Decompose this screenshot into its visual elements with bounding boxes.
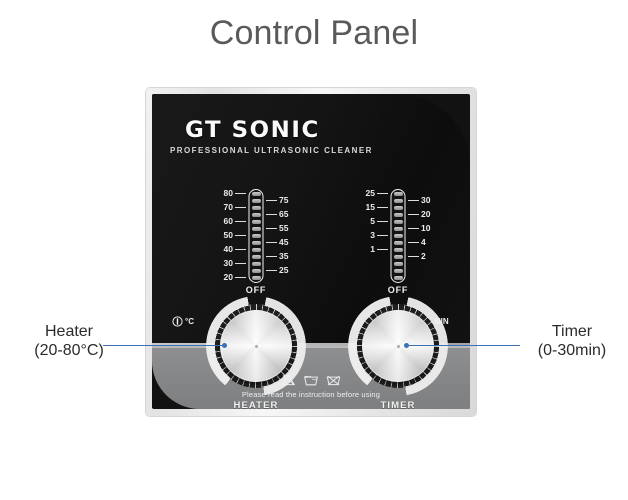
heater-tick-right [266, 256, 277, 257]
timer-knob-caption: TIMER [346, 400, 450, 409]
device-faceplate: GT SONIC PROFESSIONAL ULTRASONIC CLEANER… [152, 94, 470, 409]
timer-scale-capsule [391, 189, 406, 283]
heater-leader-dot [222, 343, 227, 348]
timer-scale-label-left: 5 [370, 216, 375, 226]
brand-logo: GT SONIC [185, 118, 320, 143]
heater-tick-right [266, 200, 277, 201]
timer-scale-segment [394, 255, 403, 260]
timer-callout-line1: Timer [520, 322, 624, 341]
heater-scale-segment [252, 241, 261, 246]
heater-tick-right [266, 270, 277, 271]
timer-scale-label-right: 2 [421, 251, 426, 261]
heater-scale-label-right: 55 [279, 223, 288, 233]
heater-tick-left [235, 207, 246, 208]
heater-scale-segment [252, 227, 261, 232]
heater-knob-dial[interactable] [220, 310, 292, 382]
timer-scale-segment [394, 206, 403, 211]
timer-tick-right [408, 256, 419, 257]
heater-callout-line1: Heater [14, 322, 124, 341]
timer-scale-label-right: 4 [421, 237, 426, 247]
timer-tick-left [377, 221, 388, 222]
timer-callout-line2: (0-30min) [520, 341, 624, 360]
page-title: Control Panel [0, 14, 628, 53]
heater-scale-segment [252, 192, 261, 197]
instruction-note: Please read the instruction before using [152, 390, 470, 399]
wash-temperature-icon [303, 374, 319, 386]
heater-scale-label-left: 50 [224, 230, 233, 240]
screenshot-root: Control Panel GT SONIC PROFESSIONAL ULTR… [0, 0, 628, 500]
timer-scale-segment [394, 213, 403, 218]
heater-tick-left [235, 277, 246, 278]
heater-scale-label-right: 75 [279, 195, 288, 205]
heater-knob-caption: HEATER [204, 400, 308, 409]
heater-tick-right [266, 228, 277, 229]
heater-scale-label-left: 20 [224, 272, 233, 282]
heater-scale-segment [252, 255, 261, 260]
timer-tick-right [408, 200, 419, 201]
timer-scale-label-left: 1 [370, 244, 375, 254]
heater-scale-segment [252, 276, 261, 281]
brand-tagline: PROFESSIONAL ULTRASONIC CLEANER [170, 146, 373, 155]
heater-scale-label-left: 70 [224, 202, 233, 212]
do-not-wash-icon [326, 374, 341, 386]
timer-tick-left [377, 193, 388, 194]
timer-scale-segment [394, 269, 403, 274]
timer-scale-segment [394, 227, 403, 232]
do-not-bleach-icon [281, 374, 296, 386]
heater-tick-left [235, 221, 246, 222]
timer-scale: 251553130201042 OFF [342, 189, 454, 285]
timer-scale-segment [394, 220, 403, 225]
timer-leader-dot [404, 343, 409, 348]
heater-tick-left [235, 263, 246, 264]
heater-scale-label-right: 45 [279, 237, 288, 247]
heater-scale-segment [252, 248, 261, 253]
heater-tick-right [266, 214, 277, 215]
heater-tick-left [235, 235, 246, 236]
care-icon-row [152, 374, 470, 386]
timer-scale-label-right: 10 [421, 223, 430, 233]
heater-scale-label-left: 80 [224, 188, 233, 198]
heater-leader-line [103, 345, 225, 346]
timer-callout: Timer (0-30min) [520, 322, 624, 360]
timer-scale-segment [394, 234, 403, 239]
timer-scale-label-left: 3 [370, 230, 375, 240]
timer-scale-label-right: 30 [421, 195, 430, 205]
heater-scale-segment [252, 213, 261, 218]
timer-tick-left [377, 249, 388, 250]
heater-scale-segment [252, 262, 261, 267]
timer-tick-left [377, 235, 388, 236]
timer-tick-right [408, 242, 419, 243]
heater-tick-right [266, 242, 277, 243]
timer-scale-label-right: 20 [421, 209, 430, 219]
thermometer-icon [172, 316, 183, 327]
heater-scale-label-right: 25 [279, 265, 288, 275]
control-panel-device: GT SONIC PROFESSIONAL ULTRASONIC CLEANER… [146, 88, 476, 416]
heater-scale-label-right: 65 [279, 209, 288, 219]
heater-scale-segment [252, 220, 261, 225]
heater-scale-capsule [249, 189, 264, 283]
timer-scale-segment [394, 262, 403, 267]
heater-tick-left [235, 249, 246, 250]
timer-scale-label-left: 15 [366, 202, 375, 212]
heater-scale-label-left: 40 [224, 244, 233, 254]
temperature-unit-label: °C [185, 317, 194, 326]
heater-scale-segment [252, 206, 261, 211]
timer-scale-segment [394, 241, 403, 246]
timer-tick-right [408, 228, 419, 229]
timer-scale-segment [394, 199, 403, 204]
heater-scale-label-left: 60 [224, 216, 233, 226]
timer-tick-right [408, 214, 419, 215]
heater-scale-label-right: 35 [279, 251, 288, 261]
heater-scale: 80706050403020756555453525 OFF [200, 189, 312, 285]
heater-scale-label-left: 30 [224, 258, 233, 268]
heater-tick-left [235, 193, 246, 194]
timer-scale-segment [394, 276, 403, 281]
temperature-unit-badge: °C [172, 316, 194, 327]
heater-scale-segment [252, 199, 261, 204]
heater-callout-line2: (20-80°C) [14, 341, 124, 360]
timer-scale-segment [394, 248, 403, 253]
heater-scale-segment [252, 269, 261, 274]
timer-tick-left [377, 207, 388, 208]
heater-scale-segment [252, 234, 261, 239]
timer-scale-segment [394, 192, 403, 197]
timer-leader-line [408, 345, 520, 346]
timer-scale-label-left: 25 [366, 188, 375, 198]
heater-callout: Heater (20-80°C) [14, 322, 124, 360]
